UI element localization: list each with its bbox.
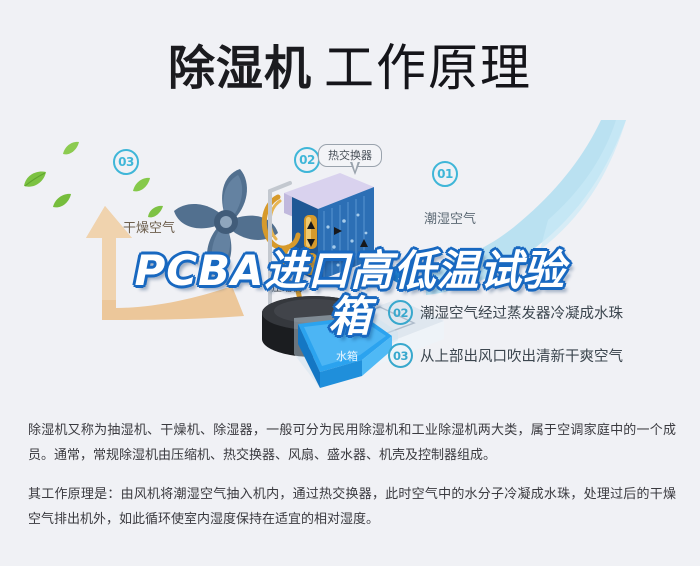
legend-text-03: 从上部出风口吹出清新干爽空气 [420, 345, 623, 366]
callout-pointer [350, 162, 360, 175]
body-paragraph-2: 其工作原理是：由风机将潮湿空气抽入机内，通过热交换器，此时空气中的水分子冷凝成水… [28, 482, 676, 532]
humid-air-label: 潮湿空气 [424, 208, 476, 227]
list-item: 03 从上部出风口吹出清新干爽空气 [388, 343, 688, 368]
dry-air-label: 干燥空气 [123, 217, 175, 236]
list-item: 02 潮湿空气经过蒸发器冷凝成水珠 [388, 300, 688, 325]
marker-01: 01 [432, 161, 458, 187]
marker-03: 03 [113, 149, 139, 175]
legend-list: 02 潮湿空气经过蒸发器冷凝成水珠 03 从上部出风口吹出清新干爽空气 [388, 300, 688, 386]
legend-marker-02: 02 [388, 300, 413, 325]
page-title: 除湿机工作原理 [0, 28, 700, 100]
leaf-icon [62, 141, 80, 157]
marker-02: 02 [294, 147, 320, 173]
infographic-page: 除湿机工作原理 [0, 0, 700, 566]
compressor-label: 压缩机 [272, 279, 302, 294]
page-title-part2: 工作原理 [324, 39, 532, 97]
leaf-icon [52, 193, 72, 210]
page-title-part1: 除湿机 [168, 42, 312, 97]
legend-marker-03: 03 [388, 343, 413, 368]
legend-text-02: 潮湿空气经过蒸发器冷凝成水珠 [420, 302, 623, 323]
body-paragraph-1: 除湿机又称为抽湿机、干燥机、除湿器，一般可分为民用除湿机和工业除湿机两大类，属于… [28, 418, 676, 468]
water-tank-label: 水箱 [336, 348, 358, 364]
leaf-icon [132, 177, 151, 194]
leaf-icon [22, 170, 48, 190]
